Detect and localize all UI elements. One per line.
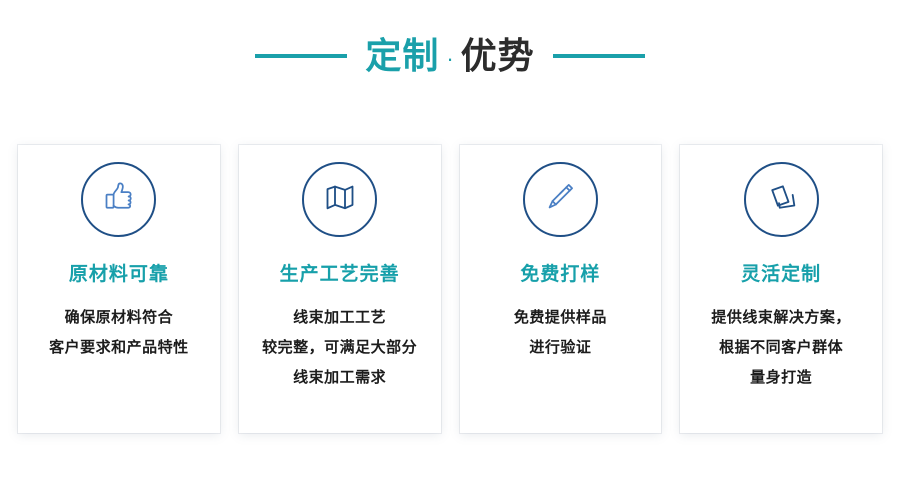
thumbs-up-icon xyxy=(99,177,139,222)
feature-card-body: 确保原材料符合 客户要求和产品特性 xyxy=(24,303,214,363)
feature-card-body-line: 量身打造 xyxy=(686,363,876,393)
feature-card-body: 免费提供样品 进行验证 xyxy=(465,303,655,363)
icon-circle xyxy=(81,162,156,237)
pencil-icon xyxy=(540,177,580,222)
section-heading: 定制 · 优势 xyxy=(0,28,900,84)
folded-map-icon xyxy=(320,177,360,222)
feature-card-list: 原材料可靠 确保原材料符合 客户要求和产品特性 生产工艺完善 线束加工工艺 较完… xyxy=(18,145,882,433)
heading-rule-left xyxy=(255,54,347,58)
icon-circle xyxy=(302,162,377,237)
icon-circle xyxy=(744,162,819,237)
feature-card-body-line: 较完整，可满足大部分 xyxy=(245,333,435,363)
feature-card[interactable]: 原材料可靠 确保原材料符合 客户要求和产品特性 xyxy=(18,145,220,433)
feature-card-title: 原材料可靠 xyxy=(69,265,169,284)
feature-card[interactable]: 免费打样 免费提供样品 进行验证 xyxy=(460,145,662,433)
feature-card-body-line: 客户要求和产品特性 xyxy=(24,333,214,363)
stacked-sheets-icon xyxy=(761,177,801,222)
feature-card-body-line: 提供线束解决方案， xyxy=(686,303,876,333)
icon-circle xyxy=(523,162,598,237)
feature-card[interactable]: 生产工艺完善 线束加工工艺 较完整，可满足大部分 线束加工需求 xyxy=(239,145,441,433)
feature-card-body-line: 进行验证 xyxy=(465,333,655,363)
feature-card-title: 生产工艺完善 xyxy=(280,265,400,284)
heading-accent-text: 定制 xyxy=(365,38,439,74)
heading-separator-dot: · xyxy=(439,48,460,70)
feature-card-body: 线束加工工艺 较完整，可满足大部分 线束加工需求 xyxy=(245,303,435,393)
feature-card-title: 灵活定制 xyxy=(741,265,821,284)
feature-card-body-line: 线束加工工艺 xyxy=(245,303,435,333)
feature-card-body-line: 免费提供样品 xyxy=(465,303,655,333)
feature-card-body-line: 线束加工需求 xyxy=(245,363,435,393)
feature-card-body-line: 根据不同客户群体 xyxy=(686,333,876,363)
feature-card-body: 提供线束解决方案， 根据不同客户群体 量身打造 xyxy=(686,303,876,393)
feature-card[interactable]: 灵活定制 提供线束解决方案， 根据不同客户群体 量身打造 xyxy=(680,145,882,433)
heading-rule-right xyxy=(553,54,645,58)
heading-text-group: 定制 · 优势 xyxy=(365,38,534,74)
heading-main-text: 优势 xyxy=(461,38,535,74)
feature-card-title: 免费打样 xyxy=(520,265,600,284)
feature-card-body-line: 确保原材料符合 xyxy=(24,303,214,333)
